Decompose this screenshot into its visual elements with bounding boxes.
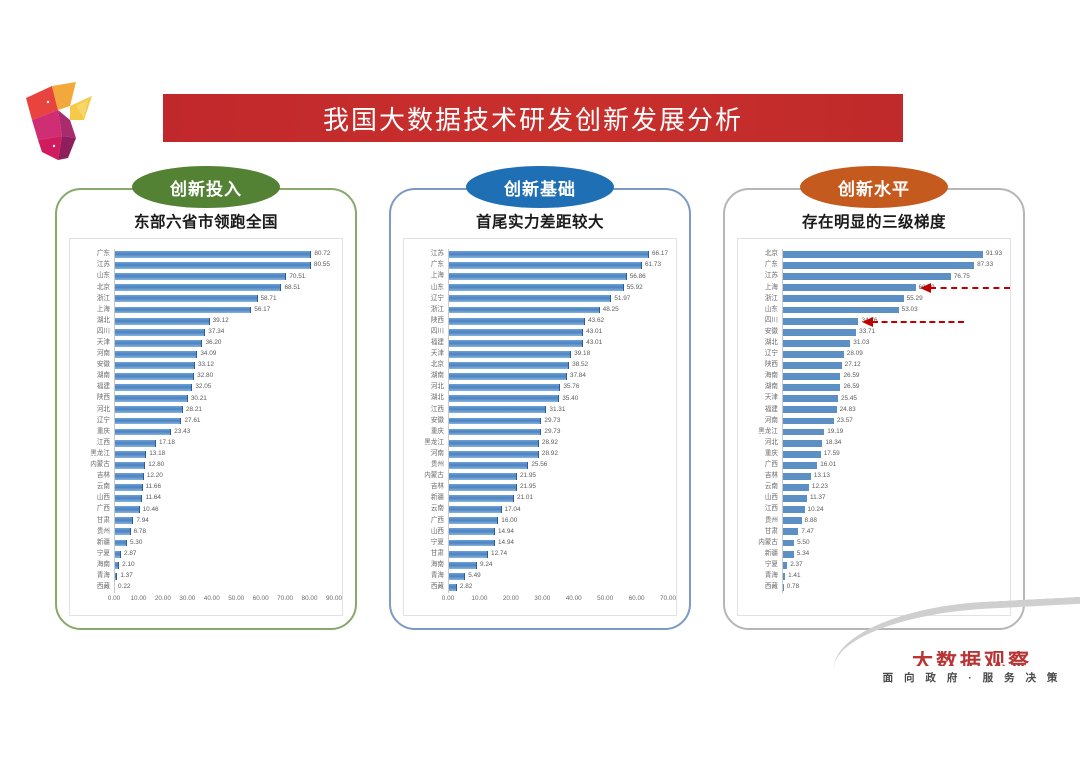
bar-container: 8.88	[782, 515, 1002, 526]
category-label: 海南	[744, 373, 782, 380]
bar	[114, 473, 144, 480]
bar-value-label: 12.74	[491, 551, 507, 557]
bar-container: 29.73	[448, 415, 668, 426]
category-label: 浙江	[744, 296, 782, 303]
bar-value-label: 11.37	[810, 495, 826, 501]
x-tick-label: 60.00	[253, 595, 269, 602]
bar-value-label: 8.88	[805, 518, 817, 524]
bar	[114, 362, 195, 369]
bar	[448, 395, 559, 402]
category-label: 天津	[744, 395, 782, 402]
bar-value-label: 21.01	[517, 495, 533, 501]
bar-value-label: 29.73	[544, 418, 560, 424]
bar	[782, 484, 809, 491]
category-label: 广东	[410, 262, 448, 269]
category-label: 湖南	[410, 373, 448, 380]
category-label: 山东	[410, 285, 448, 292]
bar-value-label: 31.03	[853, 340, 869, 346]
bar-container: 53.03	[782, 304, 1002, 315]
bar-container: 16.01	[782, 460, 1002, 471]
bar-container: 51.97	[448, 293, 668, 304]
category-label: 湖北	[410, 395, 448, 402]
bar-value-label: 76.75	[954, 274, 970, 280]
bar	[448, 362, 569, 369]
bar	[114, 406, 183, 413]
x-tick-label: 30.00	[534, 595, 550, 602]
bar-container: 35.40	[448, 393, 668, 404]
x-tick-label: 30.00	[179, 595, 195, 602]
bar-container: 2.87	[114, 549, 334, 560]
bar-value-label: 25.56	[531, 462, 547, 468]
x-tick-label: 50.00	[228, 595, 244, 602]
category-label: 四川	[76, 329, 114, 336]
bar-value-label: 33.12	[198, 362, 214, 368]
category-label: 新疆	[744, 551, 782, 558]
value-axis-line	[782, 249, 783, 593]
bar	[114, 551, 121, 558]
bar	[114, 273, 286, 280]
bar-value-label: 35.40	[562, 396, 578, 402]
bar-container: 68.51	[114, 282, 334, 293]
bar	[114, 517, 133, 524]
bar-chart-1: 广东80.72江苏80.55山东70.51北京68.51浙江58.71上海56.…	[69, 238, 343, 616]
x-tick-label: 80.00	[302, 595, 318, 602]
category-label: 甘肃	[410, 551, 448, 558]
bar-container: 5.49	[448, 571, 668, 582]
bar-value-label: 43.01	[586, 329, 602, 335]
category-label: 重庆	[410, 429, 448, 436]
bar-container: 19.19	[782, 427, 1002, 438]
bar-value-label: 36.20	[205, 340, 221, 346]
bar-container: 17.04	[448, 504, 668, 515]
bar-container: 0.78	[782, 582, 1002, 593]
x-tick-label: 10.00	[130, 595, 146, 602]
bar-container: 12.23	[782, 482, 1002, 493]
x-tick-label: 70.00	[660, 595, 676, 602]
bar-container: 48.25	[448, 304, 668, 315]
bar	[114, 451, 146, 458]
watermark-tagline: 面 向 政 府 · 服 务 决 策	[872, 670, 1072, 685]
bar	[782, 295, 904, 302]
bar	[114, 395, 188, 402]
bar-container: 9.24	[448, 560, 668, 571]
x-tick-label: 50.00	[597, 595, 613, 602]
bar-value-label: 23.43	[174, 429, 190, 435]
bar-container: 32.05	[114, 382, 334, 393]
bar-value-label: 61.73	[645, 262, 661, 268]
bar	[448, 528, 495, 535]
bar	[782, 362, 842, 369]
bar-value-label: 5.30	[130, 540, 142, 546]
bar-container: 80.72	[114, 249, 334, 260]
bar-container: 5.30	[114, 537, 334, 548]
category-label: 黑龙江	[410, 440, 448, 447]
bar-container: 33.12	[114, 360, 334, 371]
category-label: 江苏	[76, 262, 114, 269]
bar-chart-2: 江苏66.17广东61.73上海56.86山东55.92辽宁51.97浙江48.…	[403, 238, 677, 616]
bar	[448, 384, 560, 391]
bar-value-label: 55.29	[907, 296, 923, 302]
bar-value-label: 28.09	[847, 351, 863, 357]
bar-value-label: 27.12	[845, 362, 861, 368]
category-label: 安徽	[410, 418, 448, 425]
x-tick-label: 10.00	[471, 595, 487, 602]
bar-container: 12.80	[114, 460, 334, 471]
bar-container: 2.82	[448, 582, 668, 593]
category-label: 河南	[76, 351, 114, 358]
bar-value-label: 29.73	[544, 429, 560, 435]
bar-container: 14.94	[448, 526, 668, 537]
bar	[448, 573, 465, 580]
bar-container: 6.78	[114, 526, 334, 537]
category-label: 西藏	[410, 584, 448, 591]
bar-container: 27.61	[114, 415, 334, 426]
bar	[448, 262, 642, 269]
bar-value-label: 39.18	[574, 351, 590, 357]
category-label: 黑龙江	[76, 451, 114, 458]
bar-container: 76.75	[782, 271, 1002, 282]
bar-value-label: 26.59	[843, 384, 859, 390]
x-tick-label: 40.00	[566, 595, 582, 602]
bar-value-label: 10.46	[143, 507, 159, 513]
category-label: 云南	[744, 484, 782, 491]
bar	[448, 484, 517, 491]
bar-container: 28.09	[782, 349, 1002, 360]
bar-container: 24.83	[782, 404, 1002, 415]
bar-value-label: 19.19	[827, 429, 843, 435]
category-label: 西藏	[744, 584, 782, 591]
bar-container: 32.80	[114, 371, 334, 382]
bar-container: 39.12	[114, 316, 334, 327]
x-axis-ticks: 0.0010.0020.0030.0040.0050.0060.0070.008…	[114, 595, 334, 611]
category-label: 河南	[410, 451, 448, 458]
bar-value-label: 1.41	[788, 573, 800, 579]
bar-container: 16.00	[448, 515, 668, 526]
category-label: 海南	[76, 562, 114, 569]
category-label: 湖南	[76, 373, 114, 380]
category-label: 青海	[76, 573, 114, 580]
category-label: 山西	[744, 495, 782, 502]
bar	[114, 262, 311, 269]
panel-pill-label: 创新基础	[466, 166, 614, 208]
bar	[448, 318, 585, 325]
bar-container: 25.45	[782, 393, 1002, 404]
bar-container: 21.01	[448, 493, 668, 504]
bar-value-label: 6.78	[134, 529, 146, 535]
category-label: 辽宁	[410, 296, 448, 303]
tri-color-polygon-logo	[18, 80, 104, 166]
plot-area: 北京91.93广东87.33江苏76.75上海60.69浙江55.29山东53.…	[744, 249, 1002, 593]
bar-container: 39.18	[448, 349, 668, 360]
bar	[114, 506, 140, 513]
category-label: 安徽	[744, 329, 782, 336]
category-label: 云南	[76, 484, 114, 491]
category-label: 宁夏	[76, 551, 114, 558]
bar-value-label: 12.20	[147, 473, 163, 479]
bar-value-label: 5.50	[797, 540, 809, 546]
bar-value-label: 43.01	[586, 340, 602, 346]
bar-value-label: 33.71	[859, 329, 875, 335]
bar	[782, 262, 974, 269]
bar-value-label: 26.59	[843, 373, 859, 379]
category-label: 宁夏	[410, 540, 448, 547]
bar-value-label: 21.95	[520, 473, 536, 479]
bar-value-label: 28.21	[186, 407, 202, 413]
bar-value-label: 9.24	[480, 562, 492, 568]
bar	[782, 440, 822, 447]
bar-value-label: 16.01	[820, 462, 836, 468]
bar-container: 55.92	[448, 282, 668, 293]
bar-container: 5.50	[782, 537, 1002, 548]
bar-value-label: 2.37	[790, 562, 802, 568]
x-tick-label: 40.00	[204, 595, 220, 602]
bar-value-label: 51.97	[614, 296, 630, 302]
bar	[114, 284, 281, 291]
bar	[114, 528, 131, 535]
bar-value-label: 58.71	[261, 296, 277, 302]
bar-value-label: 2.87	[124, 551, 136, 557]
category-label: 辽宁	[744, 351, 782, 358]
bar	[448, 540, 495, 547]
value-axis-line	[448, 249, 449, 593]
bar-value-label: 13.13	[814, 473, 830, 479]
category-label: 福建	[744, 407, 782, 414]
bar-value-label: 43.62	[588, 318, 604, 324]
category-label: 广东	[76, 251, 114, 258]
bar	[782, 384, 840, 391]
bar-value-label: 28.92	[542, 451, 558, 457]
bar-value-label: 2.82	[460, 584, 472, 590]
bar-container: 7.47	[782, 526, 1002, 537]
bar-value-label: 23.57	[837, 418, 853, 424]
bar-value-label: 0.22	[118, 584, 130, 590]
bar	[448, 440, 539, 447]
bar-container: 33.71	[782, 327, 1002, 338]
bar-container: 36.20	[114, 338, 334, 349]
bar	[448, 284, 624, 291]
bar-value-label: 27.61	[184, 418, 200, 424]
panel-innovation-level: 创新水平 存在明显的三级梯度 北京91.93广东87.33江苏76.75上海60…	[723, 188, 1025, 630]
bar	[782, 540, 794, 547]
bar-value-label: 37.84	[570, 373, 586, 379]
bar-container: 2.37	[782, 560, 1002, 571]
category-label: 浙江	[76, 296, 114, 303]
category-label: 贵州	[410, 462, 448, 469]
bar-container: 7.94	[114, 515, 334, 526]
bar	[782, 506, 805, 513]
bar-chart-3: 北京91.93广东87.33江苏76.75上海60.69浙江55.29山东53.…	[737, 238, 1011, 616]
bar-value-label: 25.45	[841, 396, 857, 402]
bar	[114, 318, 210, 325]
bar-value-label: 11.64	[145, 495, 161, 501]
plot-area: 江苏66.17广东61.73上海56.86山东55.92辽宁51.97浙江48.…	[410, 249, 668, 593]
bar-value-label: 7.47	[801, 529, 813, 535]
category-label: 内蒙古	[744, 540, 782, 547]
category-label: 福建	[76, 384, 114, 391]
bar-container: 28.92	[448, 438, 668, 449]
panel-pill-label: 创新水平	[800, 166, 948, 208]
bar-value-label: 60.69	[919, 285, 935, 291]
slide-root: 我国大数据技术研发创新发展分析 创新投入 东部六省市领跑全国 广东80.72江苏…	[0, 0, 1080, 763]
category-label: 云南	[410, 506, 448, 513]
category-label: 陕西	[76, 395, 114, 402]
category-label: 山东	[744, 307, 782, 314]
panel-subtitle: 首尾实力差距较大	[389, 210, 691, 232]
bar	[782, 340, 850, 347]
bar	[448, 473, 517, 480]
bar-value-label: 7.94	[136, 518, 148, 524]
bar-container: 31.03	[782, 338, 1002, 349]
bar-value-label: 34.09	[200, 351, 216, 357]
bar	[448, 562, 477, 569]
bar	[114, 418, 181, 425]
bar-container: 14.94	[448, 537, 668, 548]
category-label: 河北	[744, 440, 782, 447]
bar	[114, 329, 205, 336]
bar-value-label: 48.25	[603, 307, 619, 313]
watermark-brand: 大数据观察	[872, 651, 1072, 666]
bar-container: 37.34	[114, 327, 334, 338]
bar-container: 61.73	[448, 260, 668, 271]
bar	[114, 495, 142, 502]
bar-container: 10.46	[114, 504, 334, 515]
category-label: 江西	[744, 506, 782, 513]
bar-value-label: 87.33	[977, 262, 993, 268]
category-label: 新疆	[76, 540, 114, 547]
category-label: 青海	[410, 573, 448, 580]
bar-value-label: 18.34	[825, 440, 841, 446]
bar	[782, 251, 983, 258]
bar-value-label: 1.37	[120, 573, 132, 579]
category-label: 内蒙古	[76, 462, 114, 469]
category-label: 安徽	[76, 362, 114, 369]
bar-value-label: 13.18	[149, 451, 165, 457]
category-label: 宁夏	[744, 562, 782, 569]
bar-container: 56.17	[114, 304, 334, 315]
category-label: 湖北	[76, 318, 114, 325]
x-tick-label: 90.00	[326, 595, 342, 602]
x-tick-label: 60.00	[629, 595, 645, 602]
bar	[782, 395, 838, 402]
bar-value-label: 32.80	[197, 373, 213, 379]
category-label: 黑龙江	[744, 429, 782, 436]
bar-container: 66.17	[448, 249, 668, 260]
bar	[114, 295, 258, 302]
bar	[782, 517, 802, 524]
bar-container: 12.20	[114, 471, 334, 482]
bar-container: 55.29	[782, 293, 1002, 304]
bar	[782, 373, 840, 380]
bar	[782, 273, 951, 280]
bar	[114, 251, 311, 258]
bar	[114, 540, 127, 547]
category-label: 陕西	[744, 362, 782, 369]
category-label: 江西	[76, 440, 114, 447]
bar	[114, 484, 143, 491]
category-label: 贵州	[744, 518, 782, 525]
category-label: 新疆	[410, 495, 448, 502]
bar-container: 10.24	[782, 504, 1002, 515]
bar	[448, 373, 567, 380]
bar	[448, 495, 514, 502]
category-label: 浙江	[410, 307, 448, 314]
x-tick-label: 20.00	[155, 595, 171, 602]
bar	[448, 429, 541, 436]
bar-value-label: 70.51	[289, 274, 305, 280]
bar-value-label: 17.59	[824, 451, 840, 457]
category-label: 山东	[76, 273, 114, 280]
bar	[448, 340, 583, 347]
category-label: 福建	[410, 340, 448, 347]
bar-value-label: 21.95	[520, 484, 536, 490]
watermark: 大数据观察 面 向 政 府 · 服 务 决 策	[872, 651, 1072, 685]
header-banner: 我国大数据技术研发创新发展分析	[163, 94, 903, 142]
bar-container: 31.31	[448, 404, 668, 415]
bar	[114, 440, 156, 447]
bar	[782, 284, 916, 291]
bar	[782, 406, 837, 413]
bar-value-label: 55.92	[627, 285, 643, 291]
bar	[114, 462, 145, 469]
bar-container: 43.01	[448, 327, 668, 338]
category-label: 吉林	[744, 473, 782, 480]
bar	[782, 473, 811, 480]
bar-container: 28.21	[114, 404, 334, 415]
bar-container: 70.51	[114, 271, 334, 282]
bar-container: 80.55	[114, 260, 334, 271]
category-label: 甘肃	[76, 518, 114, 525]
bar-container: 87.33	[782, 260, 1002, 271]
bar	[782, 418, 834, 425]
bar-value-label: 0.78	[787, 584, 799, 590]
bar-container: 18.34	[782, 438, 1002, 449]
bar-value-label: 5.34	[797, 551, 809, 557]
bar-container: 21.95	[448, 482, 668, 493]
bar-container: 60.69	[782, 282, 1002, 293]
bar-value-label: 39.12	[213, 318, 229, 324]
bar-value-label: 32.05	[195, 384, 211, 390]
category-label: 北京	[410, 362, 448, 369]
bar-container: 11.64	[114, 493, 334, 504]
category-label: 吉林	[76, 473, 114, 480]
bar-value-label: 12.23	[812, 484, 828, 490]
bar	[114, 351, 197, 358]
category-label: 广西	[410, 518, 448, 525]
category-label: 辽宁	[76, 418, 114, 425]
bar	[782, 351, 844, 358]
bar-value-label: 30.21	[191, 396, 207, 402]
bar-value-label: 2.10	[122, 562, 134, 568]
bar-container: 23.43	[114, 427, 334, 438]
bar-container: 0.22	[114, 582, 334, 593]
bar-container: 28.92	[448, 449, 668, 460]
bar	[448, 251, 649, 258]
bar	[782, 318, 858, 325]
panel-innovation-base: 创新基础 首尾实力差距较大 江苏66.17广东61.73上海56.86山东55.…	[389, 188, 691, 630]
bar-value-label: 68.51	[284, 285, 300, 291]
category-label: 青海	[744, 573, 782, 580]
bar	[448, 451, 539, 458]
bar	[448, 295, 611, 302]
bar-container: 34.09	[114, 349, 334, 360]
bar	[782, 551, 794, 558]
bar-container: 26.59	[782, 371, 1002, 382]
category-label: 陕西	[410, 318, 448, 325]
x-axis-ticks: 0.0010.0020.0030.0040.0050.0060.0070.00	[448, 595, 668, 611]
bar-container: 23.57	[782, 415, 1002, 426]
bar-container: 29.73	[448, 427, 668, 438]
bar-container: 56.86	[448, 271, 668, 282]
